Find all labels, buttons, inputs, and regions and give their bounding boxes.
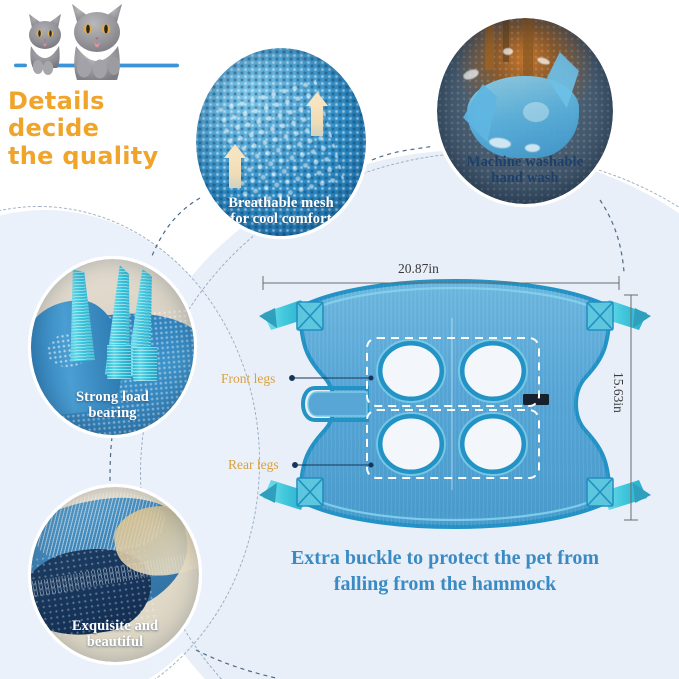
bottom-caption: Extra buckle to protect the pet from fal… — [235, 545, 655, 597]
feature-bubble-exquisite: Exquisite and beautiful — [31, 487, 199, 662]
headline-line-2: the quality — [8, 143, 203, 170]
feature-bubble-breathable-mesh: Breathable mesh for cool comfort — [196, 48, 366, 236]
leg-hole — [377, 340, 445, 402]
bubble-dashed-outline — [31, 259, 194, 435]
bubble-dashed-outline — [196, 48, 366, 236]
rear-legs-label: Rear legs — [228, 457, 279, 473]
product-hammock-illustration — [255, 258, 655, 548]
bottom-caption-line-1: Extra buckle to protect the pet from — [235, 545, 655, 571]
bubble-dashed-outline — [31, 487, 199, 662]
feature-bubble-strong-load: Strong load bearing — [31, 259, 194, 435]
leg-hole — [377, 413, 445, 475]
page-headline: Details decide the quality — [8, 88, 203, 170]
cats-photo — [14, 2, 154, 82]
leg-hole — [459, 413, 527, 475]
bottom-caption-line-2: falling from the hammock — [235, 571, 655, 597]
headline-line-1: Details decide — [8, 88, 203, 143]
extra-buckle-loop — [303, 388, 367, 420]
feature-bubble-machine-washable: Machine washable hand wash — [437, 18, 613, 204]
leg-hole — [459, 340, 527, 402]
velcro-patch — [523, 394, 549, 405]
infographic-canvas: Details decide the quality Breathable me… — [0, 0, 679, 679]
front-legs-label: Front legs — [221, 371, 275, 387]
bubble-dashed-outline — [437, 18, 613, 204]
